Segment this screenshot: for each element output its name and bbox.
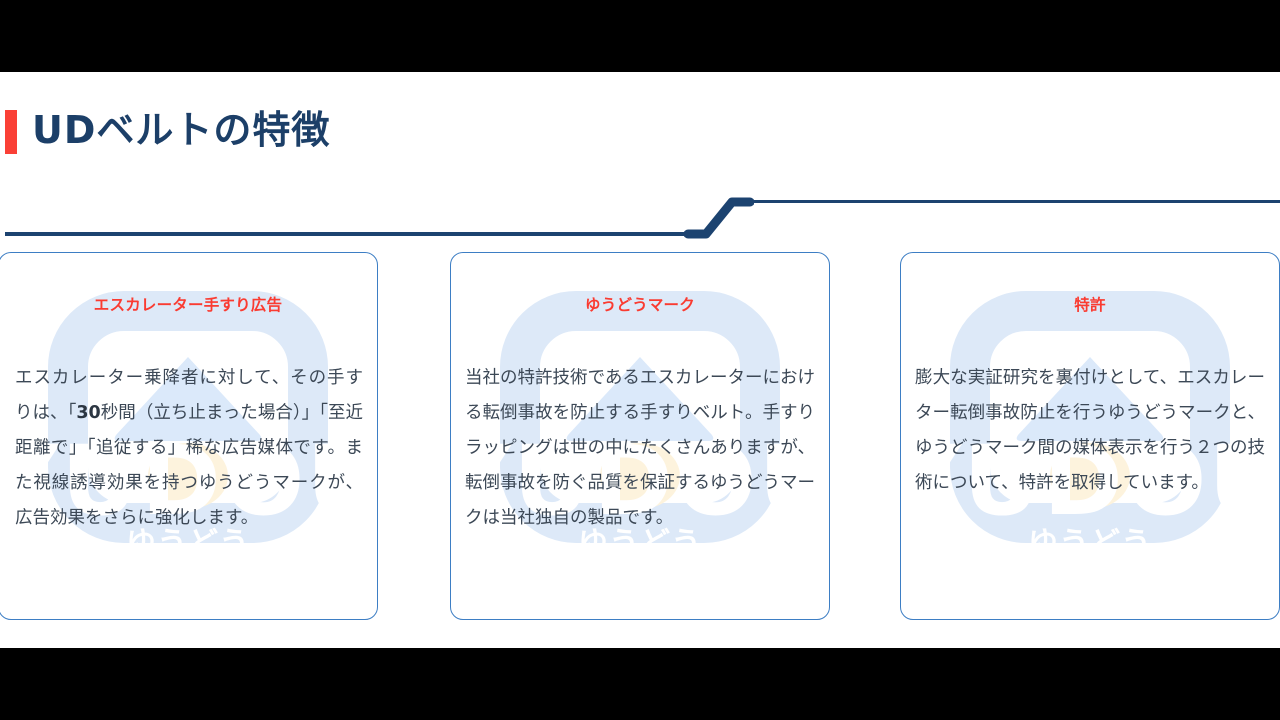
watermark-subtext: ゆうどう [1028,526,1152,561]
feature-card-1-body: エスカレーター乗降者に対して、その手すりは、「30秒間（立ち止まった場合）」「至… [0,361,377,536]
feature-card-2-title: ゆうどうマーク [451,295,829,315]
feature-card-1-content: エスカレーター手すり広告 エスカレーター乗降者に対して、その手すりは、「30秒間… [0,295,377,536]
title-accent-bar [5,110,17,154]
slide-canvas: UDベルトの特徴 YUDOU ゆうどう [0,72,1280,648]
letterbox-bottom [0,648,1280,720]
feature-card-3-content: 特許 膨大な実証研究を裏付けとして、エスカレーター転倒事故防止を行うゆうどうマー… [901,295,1279,501]
slide-frame: UDベルトの特徴 YUDOU ゆうどう [0,0,1280,720]
feature-cards-row: YUDOU ゆうどう エスカレーター手すり広告 エスカレーター乗降者に対して、そ… [0,252,1280,624]
feature-card-2-body-wrap: 当社の特許技術であるエスカレーターにおける転倒事故を防止する手すりベルト。手すり… [451,361,829,536]
feature-card-3-body-wrap: 膨大な実証研究を裏付けとして、エスカレーター転倒事故防止を行うゆうどうマークと、… [901,361,1279,501]
feature-card-3-body-part1: 膨大な実証研究を裏付けとして、エスカレーター転倒事故防止を行うゆうどうマークと、… [915,368,1265,493]
step-connector-icon [684,194,754,240]
page-title: UDベルトの特徴 [32,102,330,158]
feature-card-1[interactable]: YUDOU ゆうどう エスカレーター手すり広告 エスカレーター乗降者に対して、そ… [0,252,378,620]
feature-card-1-title: エスカレーター手すり広告 [0,295,377,315]
feature-card-2-body: 当社の特許技術であるエスカレーターにおける転倒事故を防止する手すりベルト。手すり… [451,361,829,536]
feature-card-3-title: 特許 [901,295,1279,315]
feature-card-3-body: 膨大な実証研究を裏付けとして、エスカレーター転倒事故防止を行うゆうどうマークと、… [901,361,1279,501]
feature-card-2[interactable]: YUDOU ゆうどう ゆうどうマーク 当社の特許技術であるエスカレーターにおける… [450,252,830,620]
title-block: UDベルトの特徴 [0,102,1280,166]
letterbox-top [0,0,1280,72]
feature-card-1-body-emphasis: 30 [76,403,100,423]
title-underline-left [5,232,695,236]
feature-card-2-body-part1: 当社の特許技術であるエスカレーターにおける転倒事故を防止する手すりベルト。手すり… [465,368,815,528]
feature-card-3[interactable]: YUDOU ゆうどう 特許 膨大な実証研究を裏付けとして、エスカレーター転倒事故… [900,252,1280,620]
title-underline-right [748,200,1280,203]
feature-card-1-body-wrap: エスカレーター乗降者に対して、その手すりは、「30秒間（立ち止まった場合）」「至… [0,361,377,536]
feature-card-2-content: ゆうどうマーク 当社の特許技術であるエスカレーターにおける転倒事故を防止する手す… [451,295,829,536]
